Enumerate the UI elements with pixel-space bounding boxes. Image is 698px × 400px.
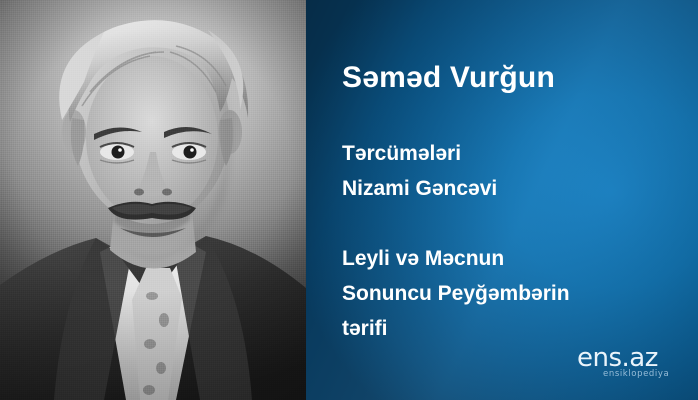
portrait-illustration (0, 0, 306, 400)
subtitle-group-two: Leyli və Məcnun Sonuncu Peyğəmbərin təri… (342, 241, 570, 346)
logo-tagline: ensiklopediya (603, 369, 669, 379)
subtitle-line: tərifi (342, 311, 570, 346)
portrait-photo (0, 0, 306, 400)
ens-az-logo[interactable]: ens.az ensiklopediya (577, 345, 677, 381)
page-title: Səməd Vurğun (342, 63, 555, 93)
subtitle-line: Nizami Gəncəvi (342, 171, 497, 206)
logo-wordmark: ens.az (577, 345, 658, 371)
blue-text-panel: Səməd Vurğun Tərcümələri Nizami Gəncəvi … (306, 0, 698, 400)
subtitle-line: Tərcümələri (342, 136, 497, 171)
subtitle-line: Leyli və Məcnun (342, 241, 570, 276)
subtitle-line: Sonuncu Peyğəmbərin (342, 276, 570, 311)
ens-az-article-banner: Səməd Vurğun Tərcümələri Nizami Gəncəvi … (0, 0, 698, 400)
subtitle-group-one: Tərcümələri Nizami Gəncəvi (342, 136, 497, 206)
